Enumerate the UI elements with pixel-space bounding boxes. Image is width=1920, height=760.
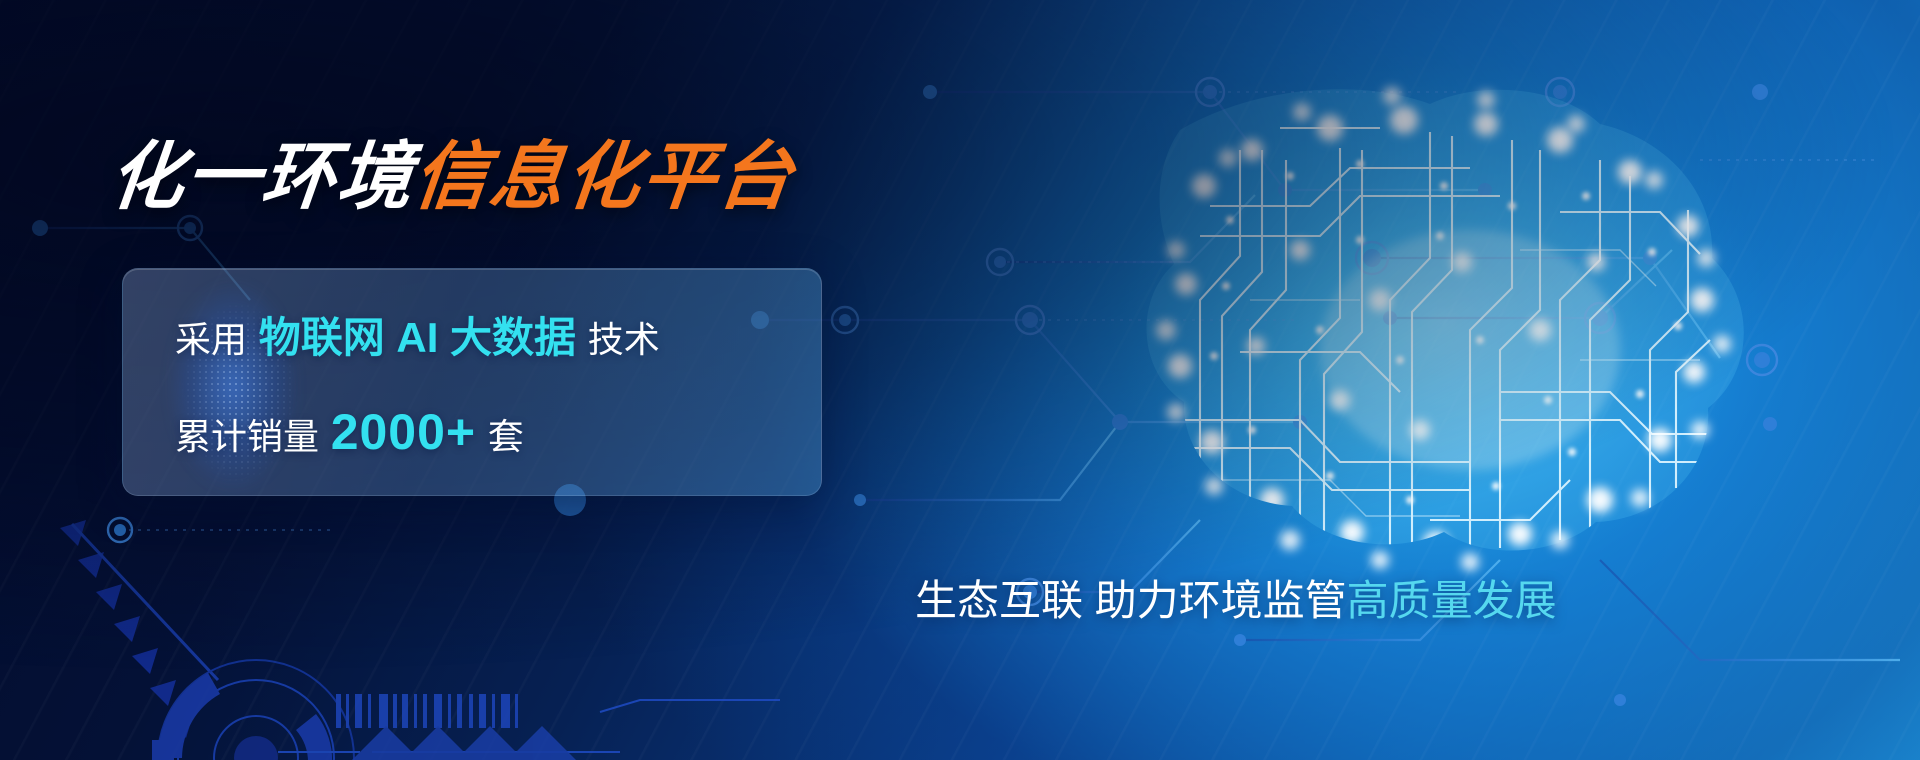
tagline-cyan-part: 高质量发展: [1347, 577, 1557, 624]
tagline: 生态互联 助力环境监管高质量发展: [915, 580, 1557, 622]
card-line2-prefix: 累计销量: [175, 416, 319, 457]
chevron-arrow-trail: [60, 520, 218, 738]
card-line-sales: 累计销量 2000+ 套: [175, 407, 524, 457]
radar-dial: [152, 660, 354, 760]
sales-count: 2000+: [331, 404, 476, 460]
hud-decorations: [60, 484, 780, 760]
tagline-white-part: 生态互联 助力环境监管: [915, 577, 1347, 624]
card-line1-suffix: 技术: [588, 319, 660, 360]
card-line1-prefix: 采用: [175, 319, 247, 360]
barcode-strip: [336, 694, 518, 728]
circuit-brain-illustration: [1114, 60, 1780, 600]
brain-rim-glow-dots: [1156, 87, 1731, 571]
card-line-technology: 采用 物联网 AI 大数据 技术: [175, 317, 660, 359]
hero-banner: 化一环境信息化平台 采用 物联网 AI 大数据 技术 累计销量 2000+ 套 …: [0, 0, 1920, 760]
title-orange-part: 信息化平台: [410, 135, 799, 218]
page-title: 化一环境信息化平台: [106, 140, 798, 214]
card-line1-highlight: 物联网 AI 大数据: [259, 314, 576, 361]
hud-lines: [278, 700, 780, 752]
hud-chevrons-bottom: [352, 726, 576, 760]
feature-card: 采用 物联网 AI 大数据 技术 累计销量 2000+ 套: [122, 268, 822, 496]
card-line2-suffix: 套: [488, 416, 524, 457]
title-white-part: 化一环境: [106, 135, 419, 218]
